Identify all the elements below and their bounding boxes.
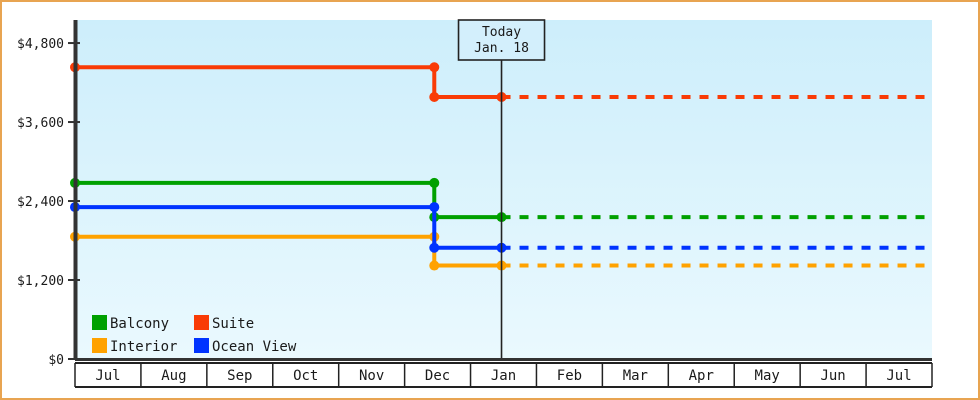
x-tick-label-sep-2: Sep <box>227 368 252 384</box>
plot-area-background <box>75 20 932 359</box>
legend-item-ocean-view[interactable]: Ocean View <box>212 339 297 355</box>
legend-swatch-interior <box>92 338 107 353</box>
legend-swatch-ocean-view <box>194 338 209 353</box>
data-point-marker[interactable] <box>429 202 439 212</box>
x-tick-label-nov-4: Nov <box>359 368 384 384</box>
x-tick-label-jan-6: Jan <box>491 368 516 384</box>
chart-panel: $0$1,200$2,400$3,600$4,800 TodayJan. 18 … <box>0 0 980 400</box>
legend-item-suite[interactable]: Suite <box>212 316 254 332</box>
x-axis: JulAugSepOctNovDecJanFebMarAprMayJunJul <box>75 363 932 387</box>
legend-swatch-suite <box>194 315 209 330</box>
y-tick-label: $1,200 <box>17 274 64 289</box>
x-tick-label-apr-9: Apr <box>689 368 714 384</box>
today-label-title: Today <box>482 25 521 40</box>
today-label-date: Jan. 18 <box>474 41 529 56</box>
x-tick-label-aug-1: Aug <box>161 368 186 384</box>
x-tick-label-jul-0: Jul <box>95 368 120 384</box>
x-tick-label-jun-11: Jun <box>820 368 845 384</box>
y-tick-label: $3,600 <box>17 116 64 131</box>
x-tick-label-dec-5: Dec <box>425 368 450 384</box>
y-axis: $0$1,200$2,400$3,600$4,800 <box>17 37 80 368</box>
legend-swatch-balcony <box>92 315 107 330</box>
data-point-marker[interactable] <box>429 261 439 271</box>
x-tick-label-feb-7: Feb <box>557 368 582 384</box>
x-tick-label-may-10: May <box>755 368 780 384</box>
data-point-marker[interactable] <box>429 178 439 188</box>
y-tick-label: $2,400 <box>17 195 64 210</box>
x-tick-label-jul-12: Jul <box>886 368 911 384</box>
price-history-chart: $0$1,200$2,400$3,600$4,800 TodayJan. 18 … <box>2 2 980 400</box>
data-point-marker[interactable] <box>429 243 439 253</box>
data-point-marker[interactable] <box>429 92 439 102</box>
data-point-marker[interactable] <box>429 62 439 72</box>
legend-item-balcony[interactable]: Balcony <box>110 316 169 332</box>
x-tick-label-mar-8: Mar <box>623 368 648 384</box>
x-tick-label-oct-3: Oct <box>293 368 318 384</box>
legend-item-interior[interactable]: Interior <box>110 339 177 355</box>
y-tick-label: $0 <box>48 353 64 368</box>
y-tick-label: $4,800 <box>17 37 64 52</box>
